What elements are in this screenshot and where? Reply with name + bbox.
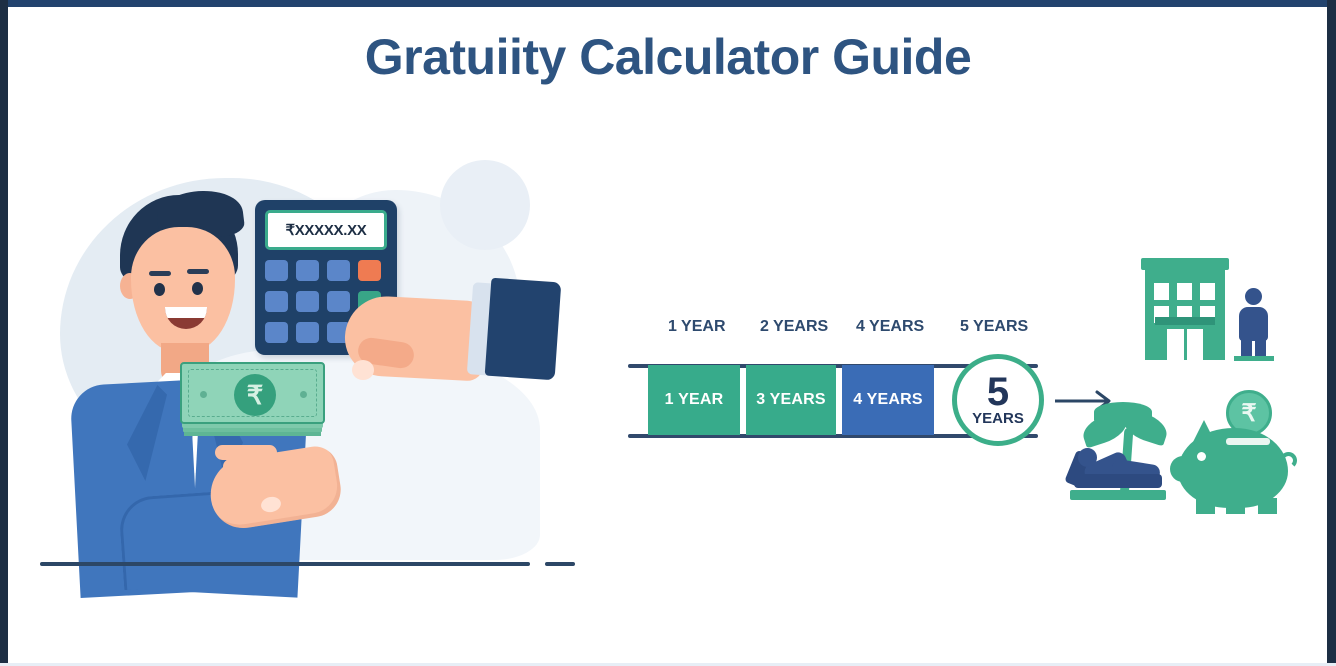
suit-sleeve (485, 278, 562, 381)
background-blob-circle (440, 160, 530, 250)
piggy-tail (1280, 452, 1297, 469)
slide-canvas: Gratuiity Calculator Guide ₹XXXXX.XX (0, 0, 1336, 666)
window-top-border (0, 0, 1336, 7)
building-window (1154, 283, 1169, 300)
badge-number: 5 (987, 373, 1009, 411)
piggy-bank-icon: ₹ (1170, 390, 1300, 515)
palm-frond (1094, 402, 1152, 422)
building-window (1200, 283, 1215, 300)
finger (215, 445, 277, 460)
service-years-timeline: 1 YEAR 2 YEARS 4 YEARS 5 YEARS 1 YEAR 3 … (620, 318, 1070, 448)
timeline-label-4: 5 YEARS (960, 318, 1028, 336)
banknote-dot (300, 391, 307, 398)
face (131, 227, 235, 352)
lounge-chair-seat (1074, 474, 1162, 488)
piggy-coin-slot (1226, 438, 1270, 445)
eye-right (192, 282, 203, 295)
palm-beach-lounger-icon (1070, 400, 1180, 510)
ground-line (40, 562, 530, 566)
outcome-icons-group: ₹ (1050, 250, 1300, 540)
piggy-leg (1258, 498, 1277, 514)
cash-stack-icon: ₹ (180, 362, 325, 424)
timeline-label-2: 2 YEARS (760, 318, 828, 336)
lounger-ground (1070, 490, 1166, 500)
banknote-dot (200, 391, 207, 398)
timeline-segment-3[interactable]: 4 YEARS (842, 365, 934, 435)
window-right-border (1327, 0, 1336, 666)
piggy-eye (1197, 452, 1206, 461)
timeline-segment-1[interactable]: 1 YEAR (648, 365, 740, 435)
building-window (1177, 283, 1192, 300)
piggy-snout (1170, 456, 1196, 482)
piggy-leg (1196, 498, 1215, 514)
handover-illustration: ₹XXXXX.XX (40, 150, 600, 590)
office-building-icon (1145, 255, 1235, 360)
person-ground (1234, 356, 1274, 361)
badge-unit: YEARS (972, 411, 1024, 428)
eyebrow-left (149, 271, 171, 276)
finger (223, 459, 293, 474)
ground-line-dash (545, 562, 575, 566)
timeline-label-1: 1 YEAR (668, 318, 726, 336)
piggy-leg (1226, 498, 1245, 514)
building-door-divider (1184, 329, 1187, 360)
eligibility-badge[interactable]: 5 YEARS (952, 354, 1044, 446)
lounger-head (1078, 448, 1097, 467)
timeline-label-row: 1 YEAR 2 YEARS 4 YEARS 5 YEARS (620, 318, 1070, 346)
eyebrow-right (187, 269, 209, 274)
timeline-label-3: 4 YEARS (856, 318, 924, 336)
giving-hand-fingertip (352, 360, 374, 380)
person-body (1239, 307, 1268, 341)
sleeve-outline (118, 492, 220, 590)
rupee-symbol-icon: ₹ (234, 374, 276, 416)
teeth (165, 307, 207, 318)
standing-person-icon (1236, 288, 1270, 360)
person-head (1245, 288, 1262, 305)
window-left-border (0, 0, 8, 666)
building-signboard (1155, 317, 1215, 325)
page-title: Gratuiity Calculator Guide (0, 30, 1336, 85)
eye-left (154, 283, 165, 296)
timeline-segment-2[interactable]: 3 YEARS (746, 365, 836, 435)
